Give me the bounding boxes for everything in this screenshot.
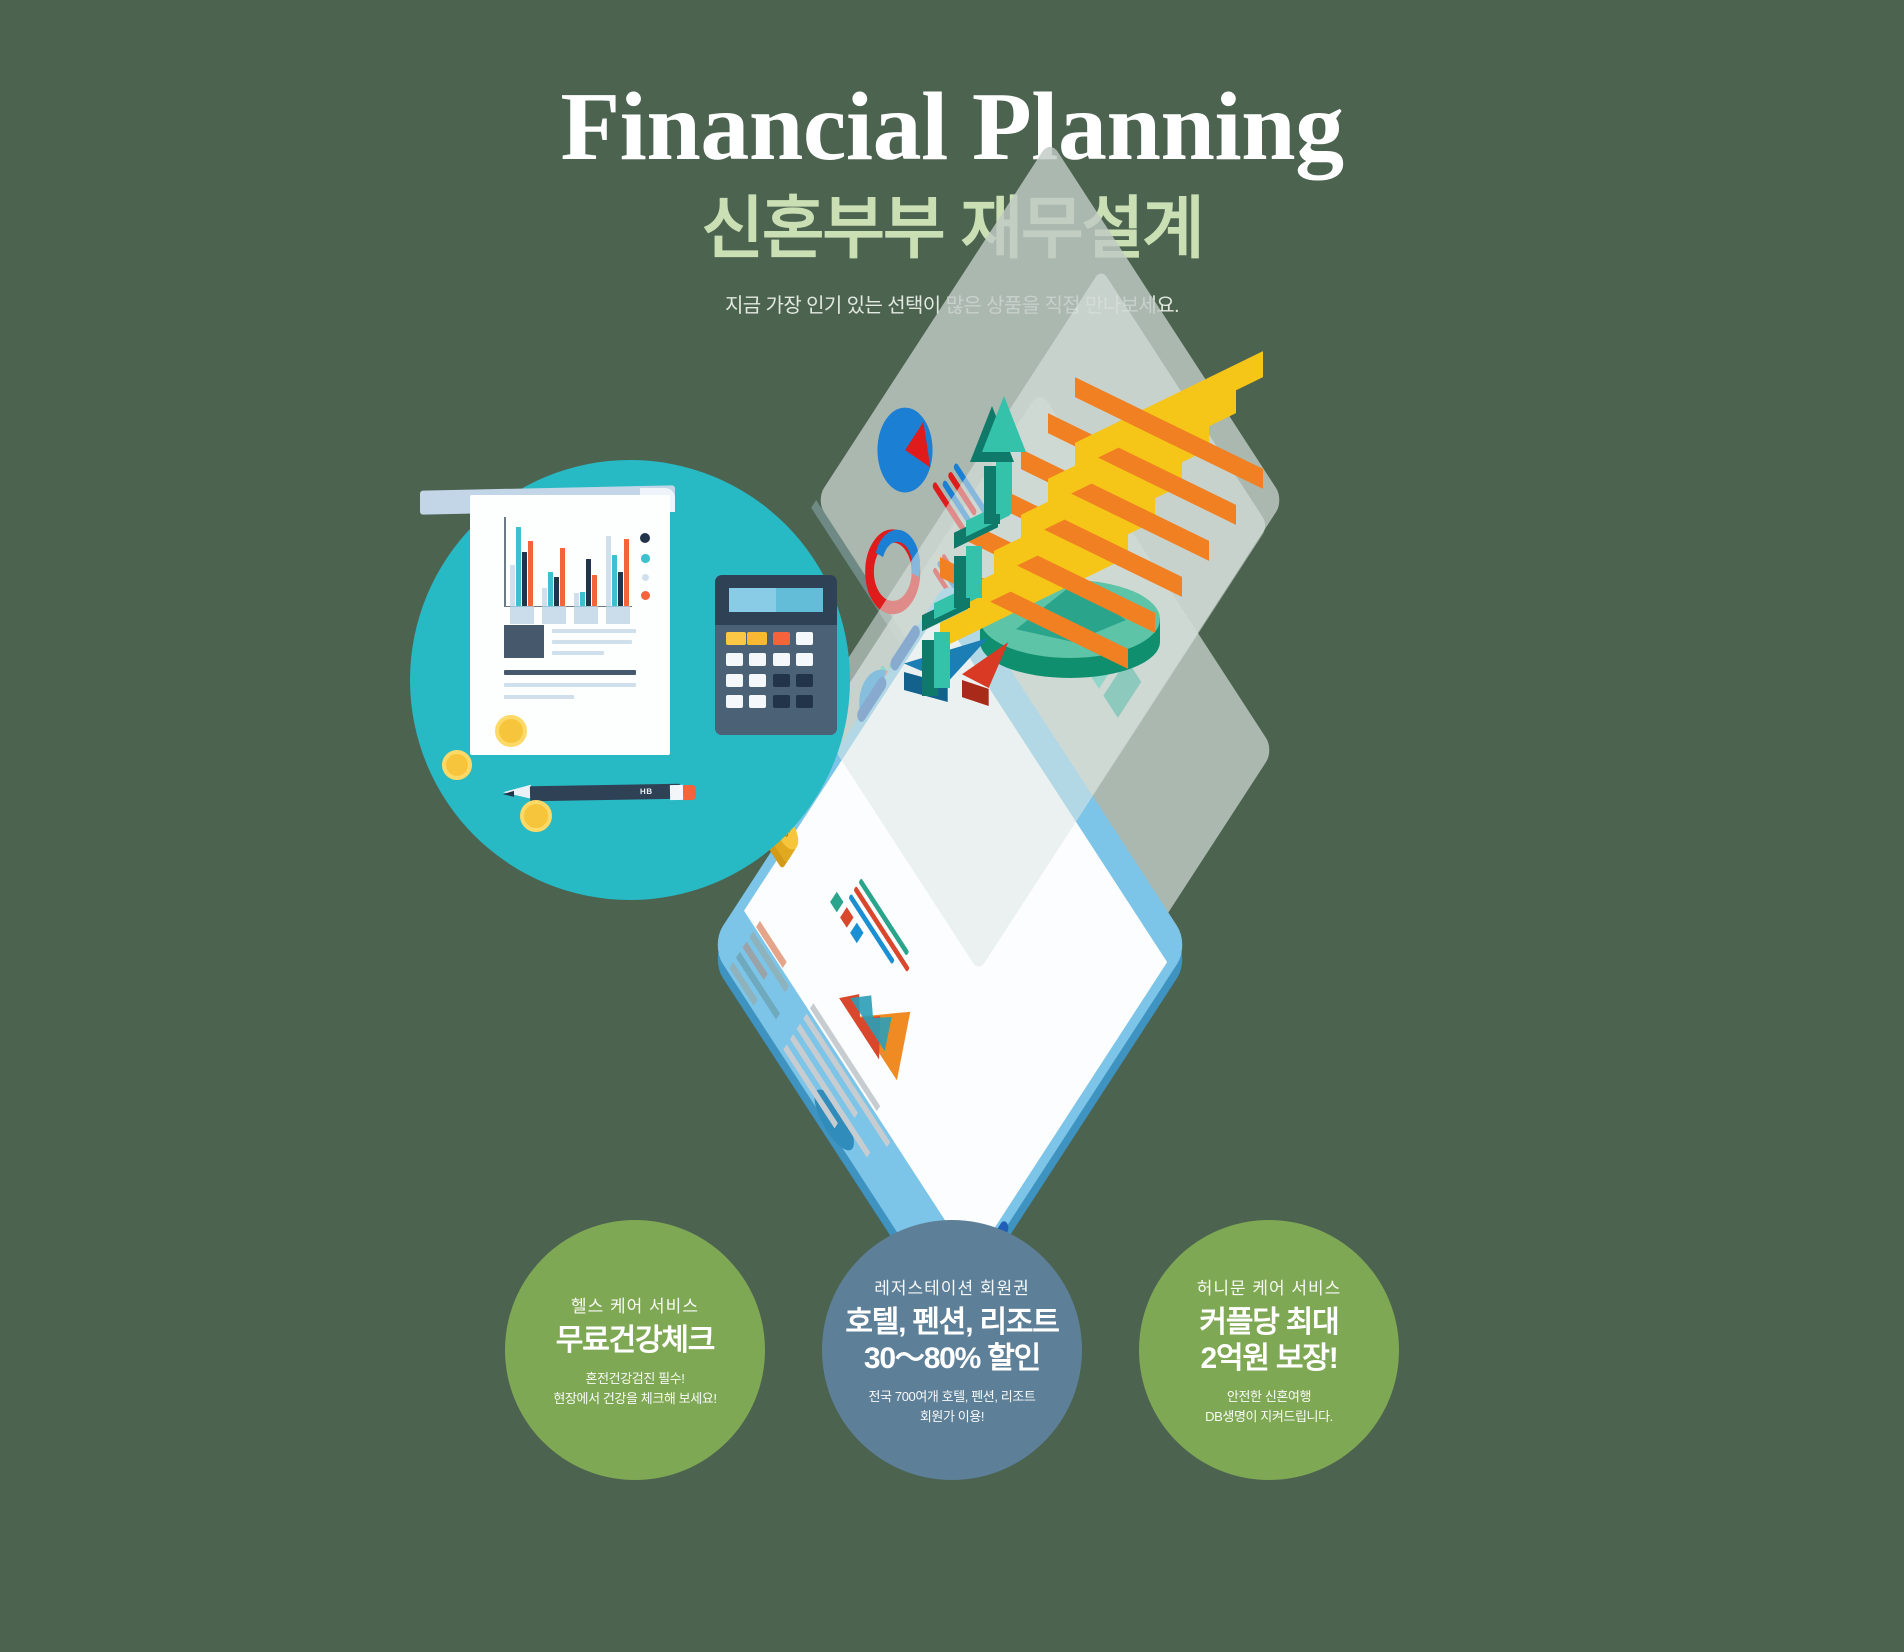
legend-dot-light-blue: [642, 574, 649, 581]
benefit-badge-honeymoon[interactable]: 허니문 케어 서비스 커플당 최대 2억원 보장! 안전한 신혼여행 DB생명이…: [1139, 1220, 1399, 1480]
bar-group: [510, 516, 537, 606]
badge-desc-line: 안전한 신혼여행: [1205, 1387, 1333, 1407]
bar-group: [574, 516, 601, 606]
calculator-key[interactable]: [773, 695, 790, 708]
calculator-key[interactable]: [796, 695, 813, 708]
badge-desc-line: 전국 700여개 호텔, 펜션, 리조트: [869, 1387, 1036, 1407]
report-image-placeholder: [504, 625, 544, 658]
badge-eyebrow: 허니문 케어 서비스: [1197, 1274, 1342, 1299]
calculator-key[interactable]: [796, 632, 813, 645]
coin-icon: [442, 750, 472, 780]
hero-illustration: $: [0, 330, 1904, 1190]
bar-group: [542, 516, 569, 606]
badge-headline: 무료건강체크: [556, 1323, 714, 1359]
badge-desc-line: 현장에서 건강을 체크해 보세요!: [553, 1389, 716, 1409]
badge-eyebrow: 레저스테이션 회원권: [874, 1274, 1029, 1299]
badge-eyebrow: 헬스 케어 서비스: [571, 1292, 699, 1317]
badge-headline: 커플당 최대: [1199, 1305, 1338, 1341]
report-text-line: [504, 683, 636, 687]
pencil-eraser: [683, 785, 696, 800]
calculator[interactable]: [715, 575, 837, 735]
coin-icon: [495, 715, 527, 747]
calculator-key[interactable]: [726, 695, 743, 708]
arrow-head-light: [982, 396, 1026, 452]
report-text-line: [504, 695, 574, 699]
benefit-badges: 헬스 케어 서비스 무료건강체크 혼전건강검진 필수! 현장에서 건강을 체크해…: [0, 1200, 1904, 1530]
coin-icon: [520, 800, 552, 832]
chart-y-axis: [504, 517, 506, 607]
badge-desc-line: 혼전건강검진 필수!: [553, 1369, 716, 1389]
badge-desc-line: DB생명이 지켜드립니다.: [1205, 1407, 1333, 1427]
pencil-lead: [503, 791, 514, 797]
calculator-key[interactable]: [749, 695, 766, 708]
calculator-key[interactable]: [726, 632, 746, 645]
benefit-badge-health[interactable]: 헬스 케어 서비스 무료건강체크 혼전건강검진 필수! 현장에서 건강을 체크해…: [505, 1220, 765, 1480]
calculator-key[interactable]: [796, 674, 813, 687]
report-text-line: [552, 629, 636, 633]
calculator-key[interactable]: [796, 653, 813, 666]
report-text-line: [552, 651, 604, 655]
badge-headline: 2억원 보장!: [1199, 1341, 1338, 1377]
calculator-key[interactable]: [773, 632, 790, 645]
legend-dot-orange: [641, 591, 650, 600]
report-bar-chart: [504, 513, 644, 607]
badge-desc-line: 회원가 이용!: [869, 1407, 1036, 1427]
calculator-key[interactable]: [726, 674, 743, 687]
calculator-key[interactable]: [773, 674, 790, 687]
calculator-key[interactable]: [749, 653, 766, 666]
calculator-key[interactable]: [747, 632, 767, 645]
badge-headline: 30〜80% 할인: [845, 1341, 1058, 1377]
legend-dot-teal: [641, 554, 650, 563]
calculator-screen-right: [776, 588, 823, 612]
pencil: [530, 784, 680, 802]
bar-chart-report: [470, 495, 670, 755]
page-title-english: Financial Planning: [0, 78, 1904, 178]
calculator-keypad: [715, 625, 837, 735]
calculator-screen: [726, 585, 826, 615]
legend-dot-navy: [640, 533, 650, 543]
page-title-korean: 신혼부부 재무설계: [0, 192, 1904, 267]
badge-headline: 호텔, 펜션, 리조트: [845, 1305, 1058, 1341]
pencil-grade-label: HB: [640, 787, 653, 796]
page-header: Financial Planning 신혼부부 재무설계 지금 가장 인기 있는…: [0, 0, 1904, 318]
bar-group: [606, 516, 633, 606]
report-text-line-highlight: [504, 670, 636, 675]
calculator-key[interactable]: [773, 653, 790, 666]
report-text-line: [552, 640, 632, 644]
calculator-key[interactable]: [749, 674, 766, 687]
calculator-key[interactable]: [726, 653, 743, 666]
benefit-badge-leisure[interactable]: 레저스테이션 회원권 호텔, 펜션, 리조트 30〜80% 할인 전국 700여…: [822, 1220, 1082, 1480]
